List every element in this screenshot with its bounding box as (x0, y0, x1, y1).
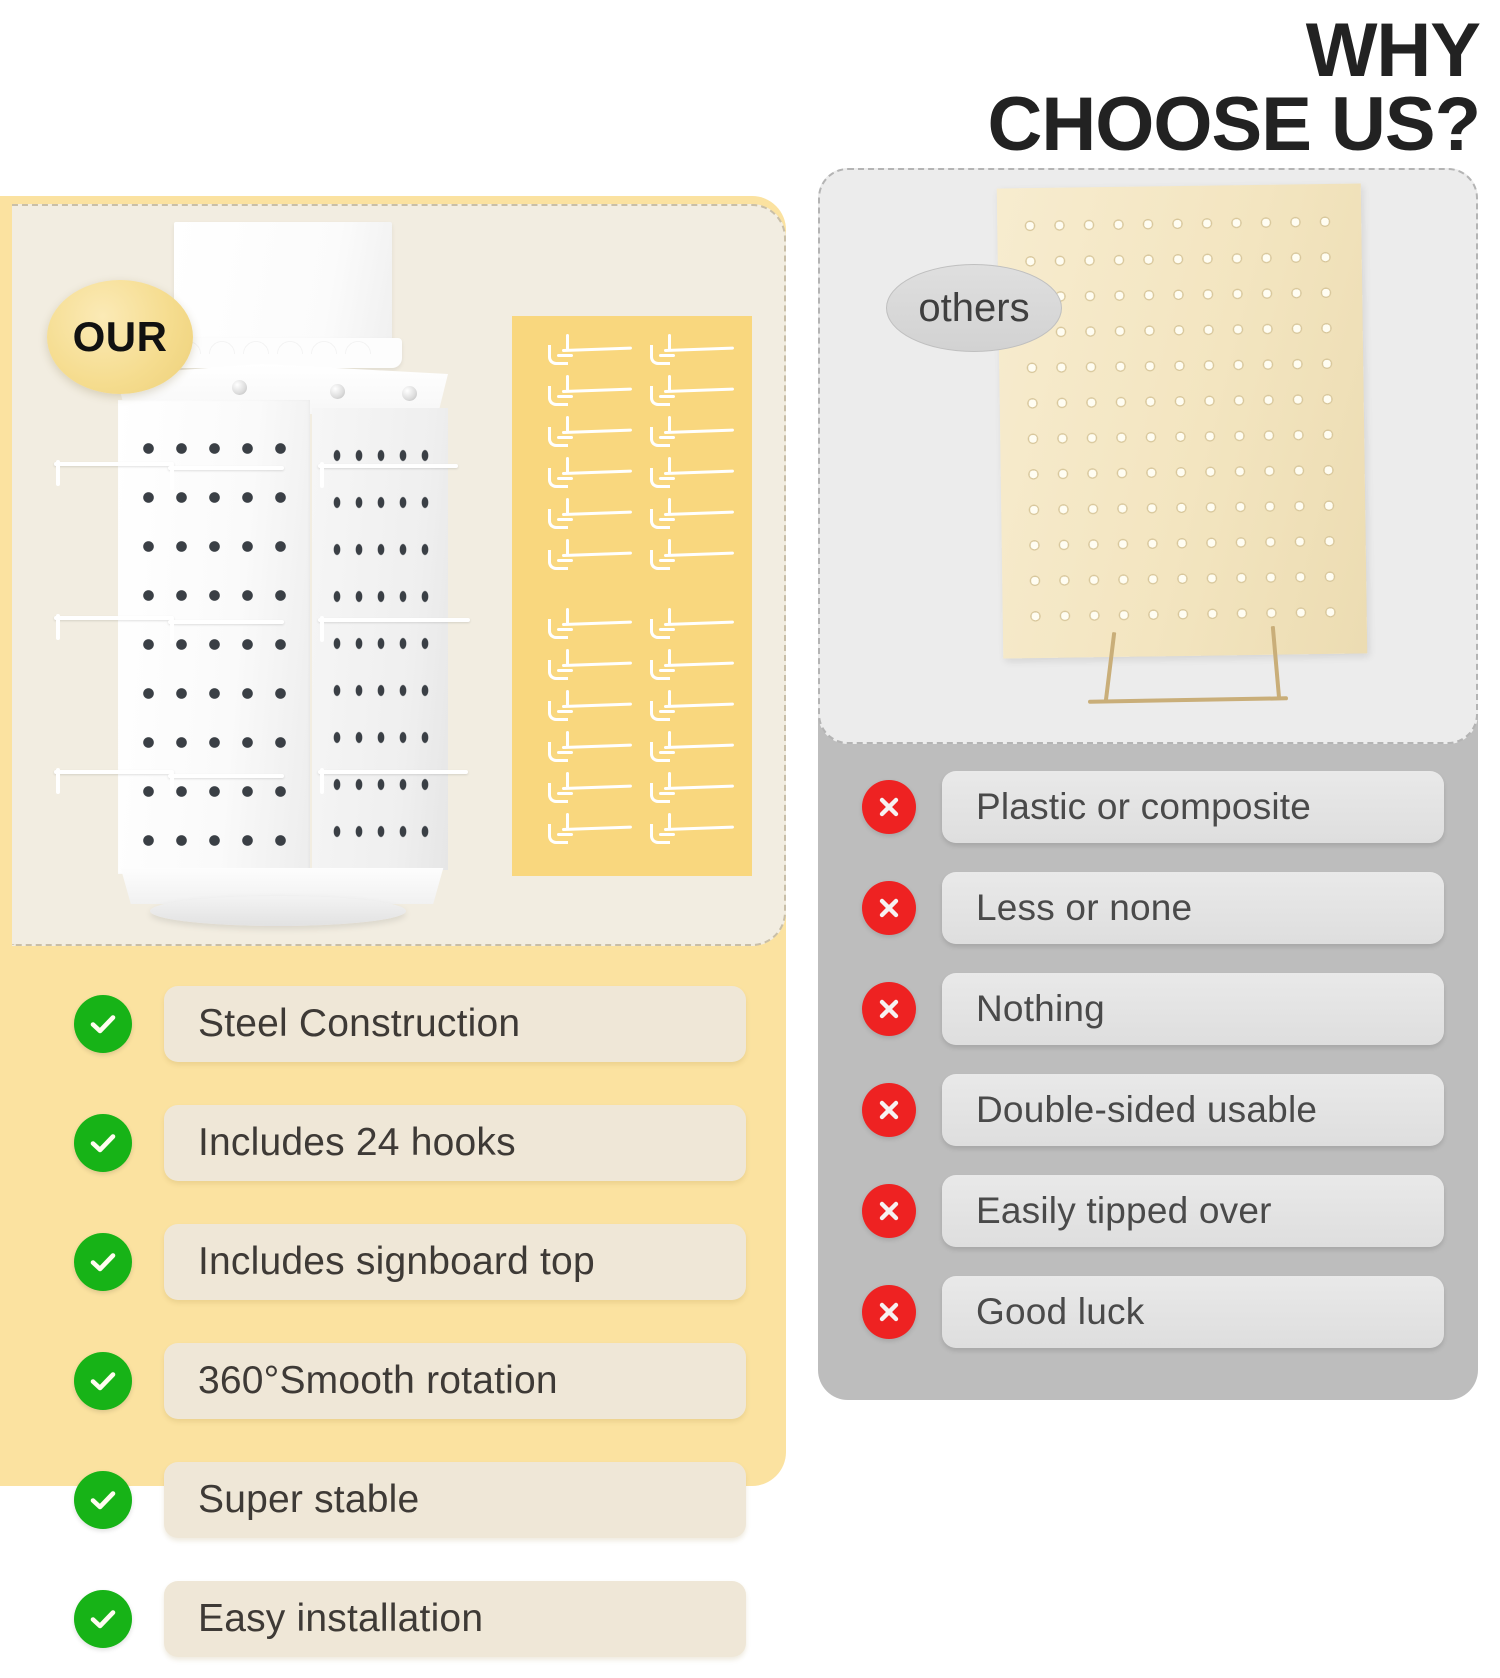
easel-crossbar (1088, 696, 1288, 703)
signboard-scallop-trim (166, 338, 402, 368)
list-item[interactable]: Good luck (818, 1261, 1478, 1362)
red-x-icon (862, 780, 916, 834)
tower-mounted-hook (318, 464, 458, 468)
feature-label: Good luck (942, 1276, 1444, 1348)
pegboard-hook-icon (650, 543, 734, 573)
tower-mounted-hook (318, 618, 470, 622)
tower-screw-icon (402, 386, 417, 401)
page-title: WHY CHOOSE US? (820, 14, 1480, 163)
others-badge-label: others (918, 286, 1029, 331)
list-item[interactable]: Easily tipped over (818, 1160, 1478, 1261)
feature-label: Plastic or composite (942, 771, 1444, 843)
red-x-icon (862, 1285, 916, 1339)
feature-label: Steel Construction (164, 986, 746, 1062)
list-item[interactable]: Super stable (0, 1440, 786, 1559)
others-feature-list: Plastic or composite Less or none Nothin… (818, 756, 1478, 1362)
pegboard-hook-icon (548, 735, 632, 765)
tower-mounted-hook (318, 770, 468, 774)
pegboard-hook-icon (650, 502, 734, 532)
pegboard-hooks-accessory-image (512, 316, 752, 876)
list-item[interactable]: Nothing (818, 958, 1478, 1059)
pegboard-hook-icon (650, 379, 734, 409)
pegboard-hook-icon (548, 502, 632, 532)
red-x-icon (862, 1184, 916, 1238)
pegboard-hook-icon (548, 543, 632, 573)
pegboard-hook-icon (548, 776, 632, 806)
others-badge: others (886, 264, 1062, 352)
list-item[interactable]: Includes 24 hooks (0, 1083, 786, 1202)
tower-mounted-hook (54, 462, 174, 466)
green-check-icon (74, 1471, 132, 1529)
list-item[interactable]: Less or none (818, 857, 1478, 958)
feature-label: Easy installation (164, 1581, 746, 1657)
tower-mounted-hook (168, 620, 284, 624)
tower-mounted-hook (168, 774, 284, 778)
feature-label: Double-sided usable (942, 1074, 1444, 1146)
list-item[interactable]: Double-sided usable (818, 1059, 1478, 1160)
list-item[interactable]: Steel Construction (0, 964, 786, 1083)
pegboard-hook-icon (548, 338, 632, 368)
list-item[interactable]: Plastic or composite (818, 756, 1478, 857)
red-x-icon (862, 881, 916, 935)
pegboard-hook-icon (548, 817, 632, 847)
feature-label: Easily tipped over (942, 1175, 1444, 1247)
list-item[interactable]: Easy installation (0, 1559, 786, 1678)
side-panel-peg-holes (320, 426, 442, 856)
tower-screw-icon (232, 380, 247, 395)
ours-comparison-panel: OUR Steel Construction Includes 24 hooks… (0, 196, 786, 1486)
red-x-icon (862, 1083, 916, 1137)
pegboard-hook-icon (650, 694, 734, 724)
page-title-line-2: CHOOSE US? (820, 88, 1480, 162)
green-check-icon (74, 1233, 132, 1291)
wooden-pegboard-image (980, 180, 1380, 720)
red-x-icon (862, 982, 916, 1036)
pegboard-hook-icon (548, 379, 632, 409)
green-check-icon (74, 1590, 132, 1648)
pegboard-hook-icon (650, 817, 734, 847)
signboard-top-panel (174, 222, 392, 350)
tower-mounted-hook (54, 616, 174, 620)
pegboard-hook-icon (548, 653, 632, 683)
front-panel-peg-holes (126, 418, 302, 862)
hooks-grid (512, 316, 752, 876)
pegboard-hook-icon (650, 735, 734, 765)
pegboard-hook-icon (650, 612, 734, 642)
list-item[interactable]: 360°Smooth rotation (0, 1321, 786, 1440)
list-item[interactable]: Includes signboard top (0, 1202, 786, 1321)
pegboard-hook-icon (650, 653, 734, 683)
pegboard-hook-icon (650, 338, 734, 368)
ours-feature-list: Steel Construction Includes 24 hooks Inc… (0, 964, 786, 1678)
feature-label: Super stable (164, 1462, 746, 1538)
others-comparison-panel: others Plastic or composite Less or none… (818, 196, 1478, 1400)
feature-label: Includes signboard top (164, 1224, 746, 1300)
feature-label: 360°Smooth rotation (164, 1343, 746, 1419)
feature-label: Less or none (942, 872, 1444, 944)
rotating-base-disc (150, 896, 406, 926)
page-title-line-1: WHY (820, 14, 1480, 88)
pegboard-hook-icon (650, 776, 734, 806)
wooden-board-peg-holes (1013, 202, 1349, 643)
pegboard-hook-icon (548, 420, 632, 450)
green-check-icon (74, 1352, 132, 1410)
green-check-icon (74, 1114, 132, 1172)
our-badge: OUR (47, 280, 193, 394)
tower-screw-icon (330, 384, 345, 399)
pegboard-hook-icon (548, 612, 632, 642)
feature-label: Nothing (942, 973, 1444, 1045)
our-badge-label: OUR (73, 313, 168, 361)
others-product-image-card (818, 168, 1478, 744)
tower-mounted-hook (54, 770, 174, 774)
pegboard-hook-icon (650, 420, 734, 450)
pegboard-hook-icon (548, 694, 632, 724)
green-check-icon (74, 995, 132, 1053)
pegboard-hook-icon (548, 461, 632, 491)
feature-label: Includes 24 hooks (164, 1105, 746, 1181)
pegboard-hook-icon (650, 461, 734, 491)
tower-mounted-hook (168, 466, 284, 470)
